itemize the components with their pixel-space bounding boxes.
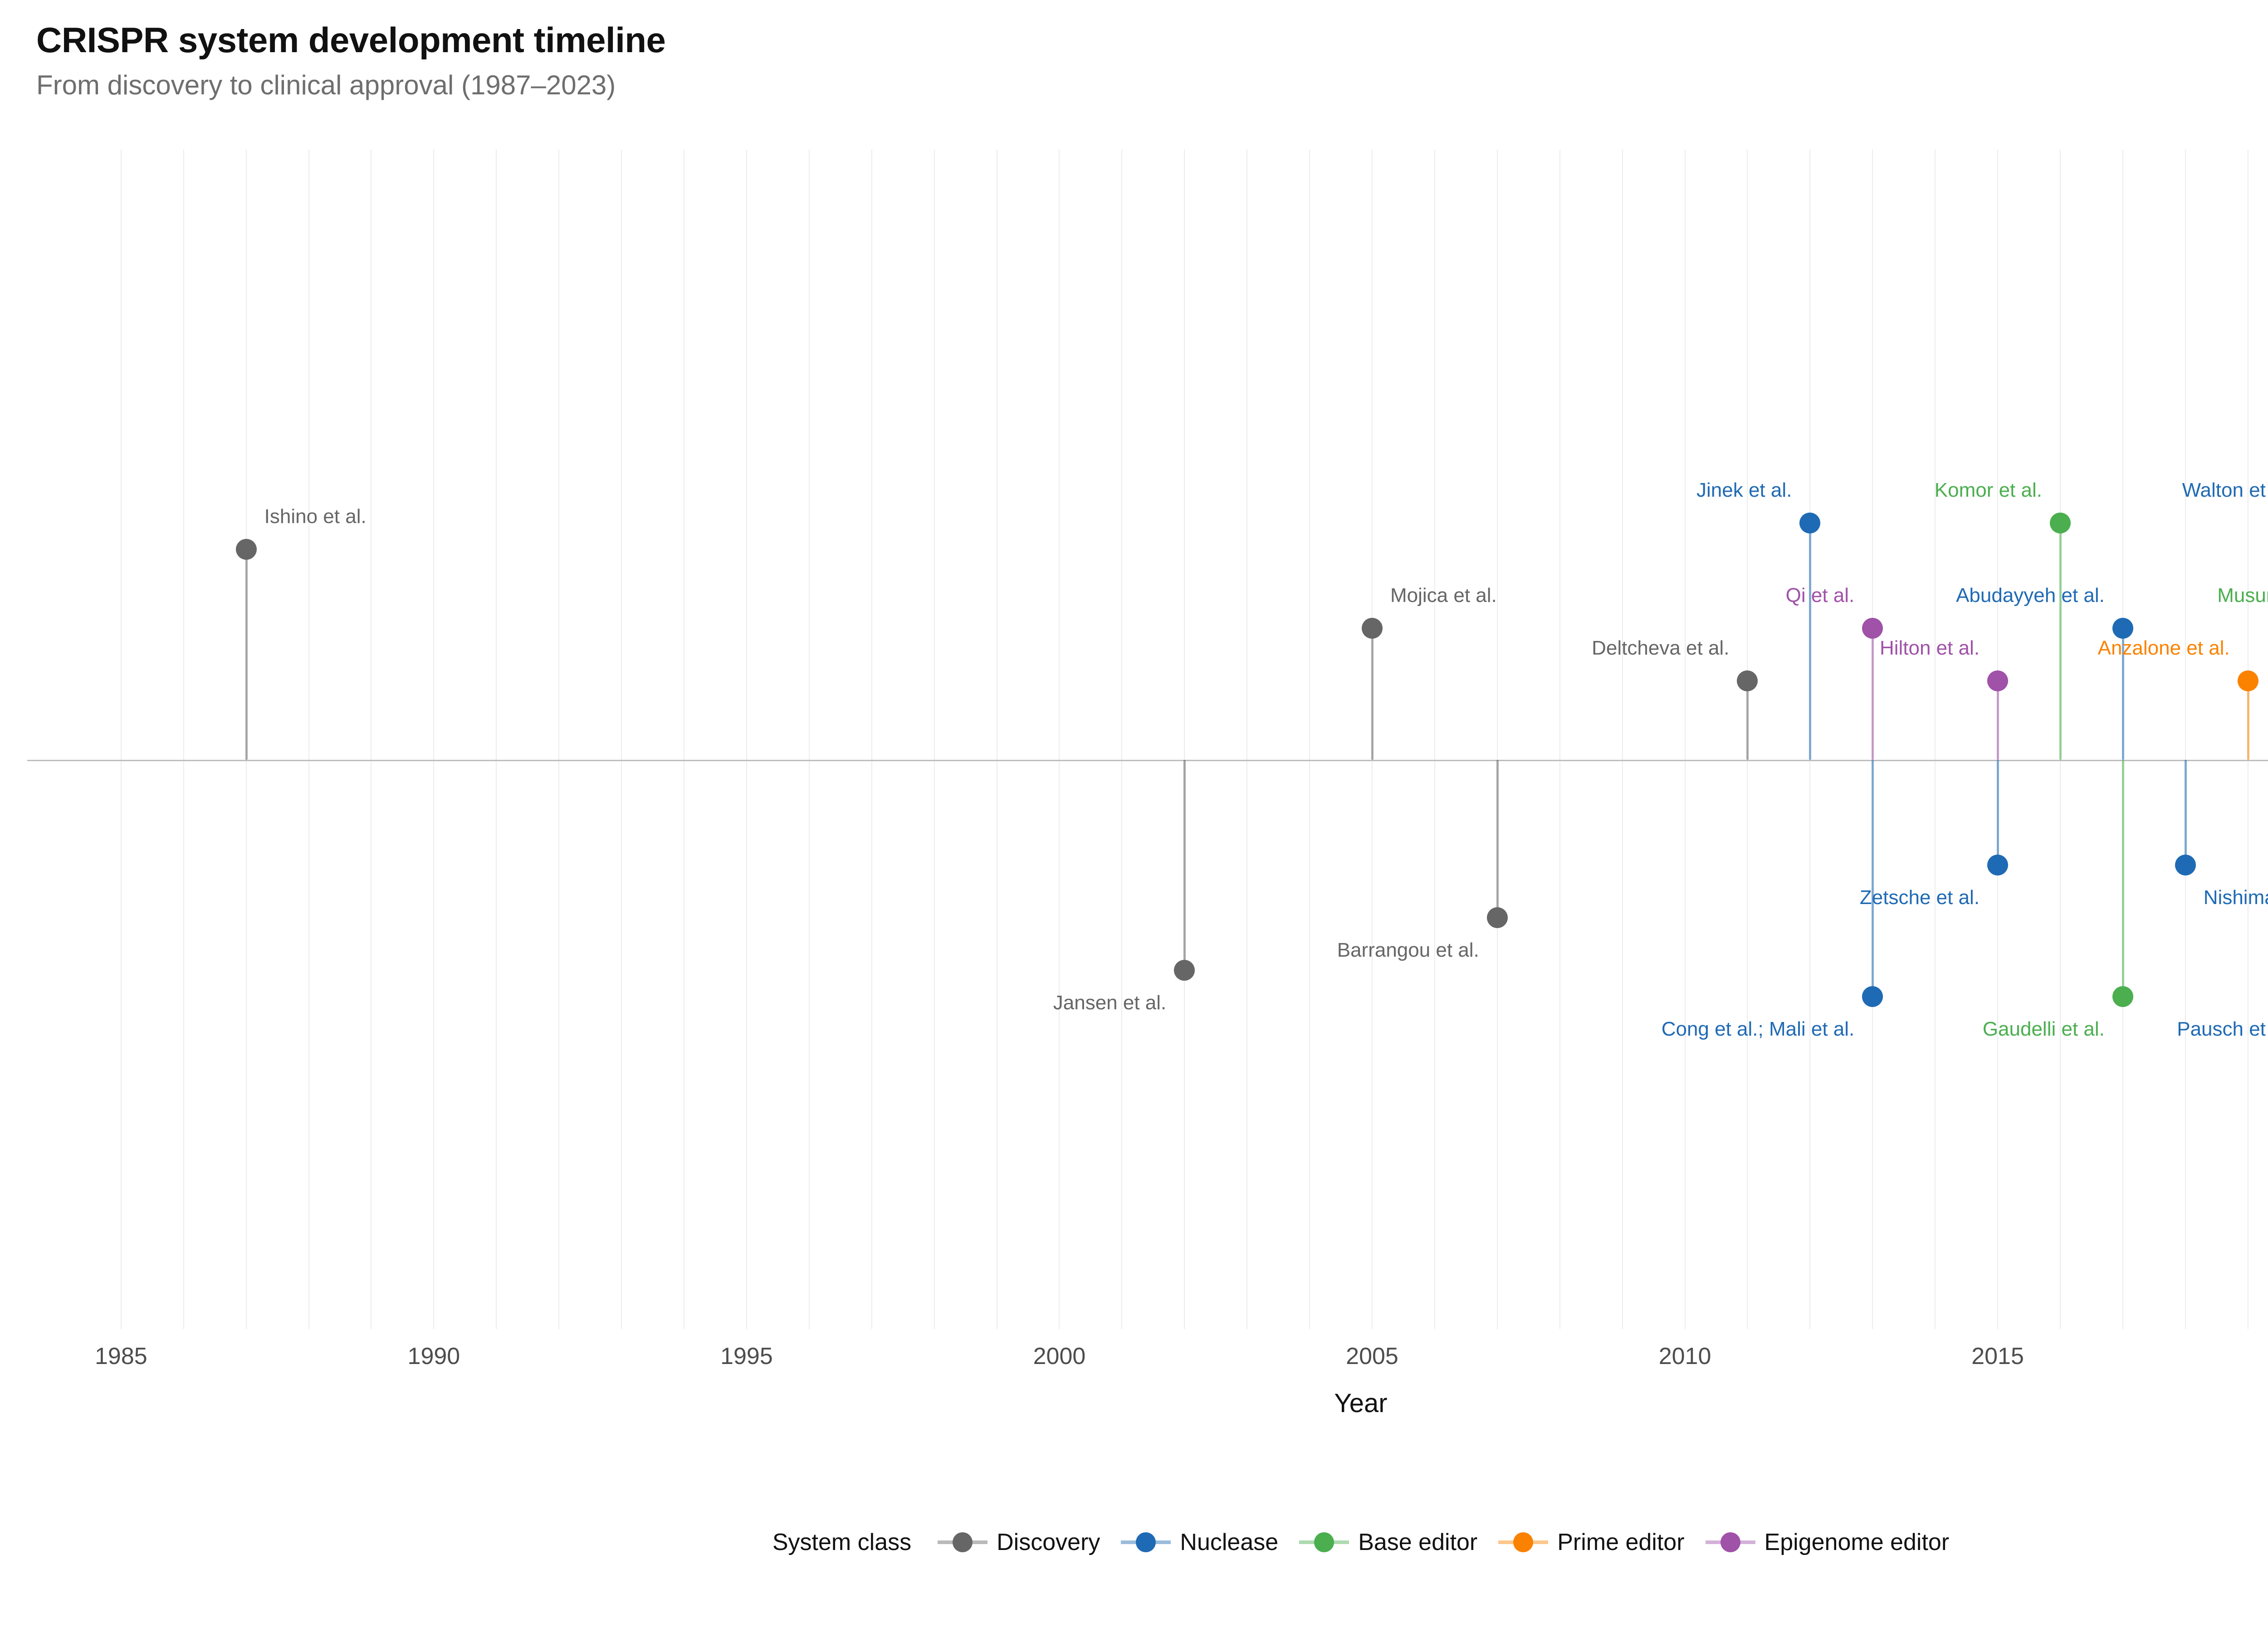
legend-item-nuclease[interactable]: Nuclease [1121,1529,1278,1556]
event-dot[interactable] [2238,670,2258,691]
legend-item-label: Epigenome editor [1765,1529,1950,1556]
event-stem [1997,681,1999,760]
x-axis-title: Year [0,1388,2268,1418]
event-stem [1872,760,1874,997]
x-tick-label: 1995 [720,1343,773,1370]
event-dot[interactable] [1799,513,1820,533]
legend-item-label: Base editor [1358,1529,1477,1556]
legend-title: System class [772,1529,911,1556]
gridline [183,150,184,1329]
event-label: Barrangou et al. [1337,940,1479,960]
legend-item-prime-editor[interactable]: Prime editor [1498,1529,1684,1556]
gridline [684,150,684,1329]
event-label: Ishino et al. [264,507,367,527]
event-stem [2247,681,2249,760]
x-tick-label: 1990 [408,1343,460,1370]
legend-item-label: Discovery [997,1529,1100,1556]
x-tick-label: 2010 [1659,1343,1711,1370]
gridline [1497,150,1498,1329]
x-tick-label: 2005 [1346,1343,1398,1370]
gridline [1309,150,1310,1329]
event-dot[interactable] [2112,986,2133,1007]
legend-item-discovery[interactable]: Discovery [938,1529,1100,1556]
gridline [871,150,872,1329]
event-dot[interactable] [1987,670,2008,691]
event-dot[interactable] [2112,618,2133,639]
event-label: Zetsche et al. [1860,888,1980,908]
event-label: Mojica et al. [1390,586,1497,606]
event-stem [1183,760,1186,970]
gridline [746,150,747,1329]
event-stem [2059,523,2062,760]
event-label: Nishimasu et al. [2204,888,2268,908]
gridline [621,150,622,1329]
x-tick-label: 1985 [95,1343,147,1370]
legend-item-label: Prime editor [1557,1529,1684,1556]
x-tick-label: 2000 [1033,1343,1086,1370]
gridline [2185,150,2186,1329]
event-label: Pausch et al. [2177,1019,2268,1039]
legend-key-icon [1706,1530,1755,1555]
gridline [433,150,434,1329]
gridline [1935,150,1936,1329]
event-dot[interactable] [1987,855,2008,875]
gridline [1685,150,1686,1329]
event-stem [1746,681,1749,760]
gridline [1184,150,1185,1329]
event-stem [2185,760,2187,865]
event-dot[interactable] [1174,960,1195,981]
gridline [308,150,309,1329]
event-dot[interactable] [1862,986,1883,1007]
gridline [121,150,122,1329]
gridline [1434,150,1435,1329]
event-dot[interactable] [2050,513,2071,533]
gridline [809,150,810,1329]
gridline [496,150,497,1329]
event-stem [1371,628,1374,760]
event-label: Gaudelli et al. [1983,1019,2105,1039]
event-stem [1872,628,1874,760]
event-label: Walton et al. [2182,480,2268,500]
legend-key-icon [1121,1530,1171,1555]
event-stem [1809,523,1811,760]
x-tick-label: 2015 [1971,1343,2024,1370]
event-label: Hilton et al. [1880,638,1980,658]
x-axis: 198519901995200020052010201520202025 Yea… [0,1343,2268,1461]
event-label: Anzalone et al. [2098,638,2230,658]
event-dot[interactable] [236,539,257,560]
chart-header: CRISPR system development timeline From … [36,22,2268,99]
event-dot[interactable] [2175,855,2196,875]
legend-key-icon [1498,1530,1548,1555]
axis-baseline [27,760,2268,761]
event-label: Abudayyeh et al. [1956,586,2105,606]
legend: System class DiscoveryNucleaseBase edito… [0,1529,2268,1556]
event-label: Deltcheva et al. [1592,638,1729,658]
gridline [371,150,371,1329]
plot-area: Ishino et al.Jansen et al.Mojica et al.B… [0,150,2268,1329]
chart-subtitle: From discovery to clinical approval (198… [36,71,2268,99]
event-label: Qi et al. [1786,586,1855,606]
gridline [1246,150,1247,1329]
legend-key-icon [938,1530,987,1555]
gridline [1059,150,1060,1329]
legend-item-label: Nuclease [1180,1529,1278,1556]
event-label: Komor et al. [1935,480,2042,500]
event-dot[interactable] [1862,618,1883,639]
gridline [1121,150,1122,1329]
legend-item-base-editor[interactable]: Base editor [1299,1529,1477,1556]
event-dot[interactable] [1487,907,1508,928]
legend-items: DiscoveryNucleaseBase editorPrime editor… [938,1529,1949,1556]
legend-item-epigenome-editor[interactable]: Epigenome editor [1706,1529,1950,1556]
gridline [1622,150,1623,1329]
event-dot[interactable] [1362,618,1383,639]
event-label: Jansen et al. [1053,993,1167,1013]
event-stem [245,549,248,760]
event-stem [1997,760,1999,865]
gridline [558,150,559,1329]
event-label: Musunuru et al. [2217,586,2268,606]
page-title: CRISPR system development timeline [36,22,2268,59]
legend-key-icon [1299,1530,1349,1555]
event-stem [1496,760,1499,918]
gridline [934,150,935,1329]
event-label: Cong et al.; Mali et al. [1662,1019,1855,1039]
gridline [997,150,997,1329]
event-stem [2122,760,2124,997]
gridline [1559,150,1560,1329]
event-label: Jinek et al. [1696,480,1792,500]
event-dot[interactable] [1737,670,1758,691]
timeline-chart: CRISPR system development timeline From … [0,0,2268,1633]
